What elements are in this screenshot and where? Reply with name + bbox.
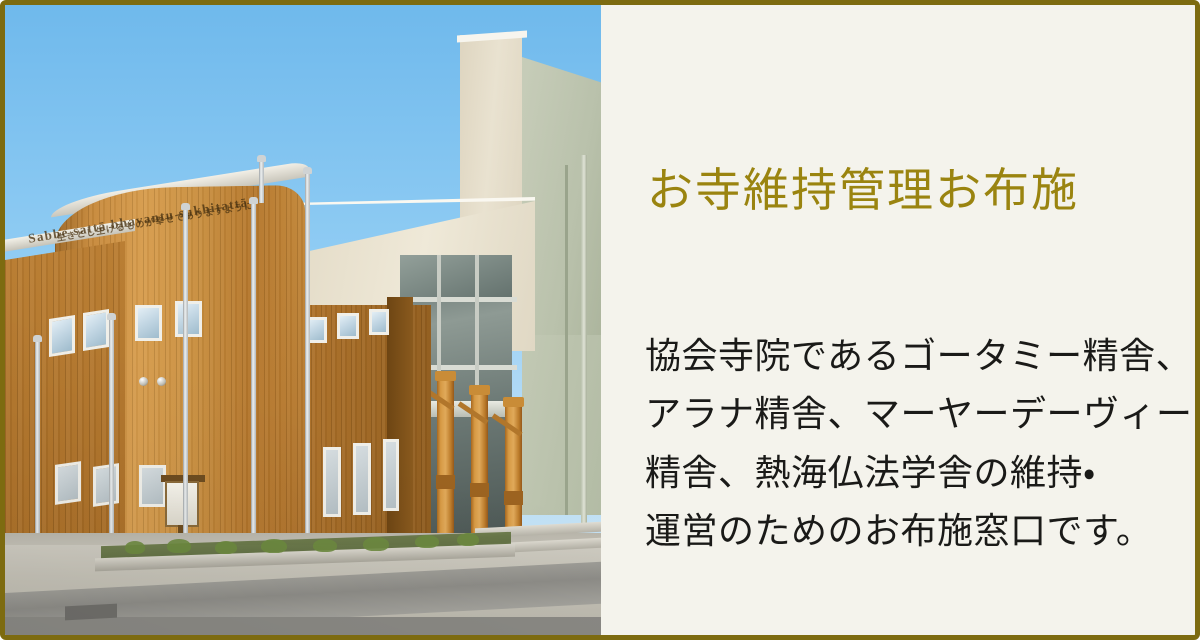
photo-vignette [5, 5, 601, 635]
description-text: 協会寺院であるゴータミー精舎、 アラナ精舎、マーヤーデーヴィー 精舎、熱海仏法学… [645, 327, 1171, 560]
description-line: アラナ精舎、マーヤーデーヴィー [645, 385, 1171, 443]
donation-banner-card: Sabbe sattā bhavantu sukhitattā 生きとし生けるも… [0, 0, 1200, 640]
description-line: 精舎、熱海仏法学舎の維持・ [645, 444, 1171, 502]
description-line: 協会寺院であるゴータミー精舎、 [645, 327, 1171, 385]
description-line: 運営のためのお布施窓口です。 [645, 502, 1171, 560]
page-title: お寺維持管理お布施 [647, 168, 1079, 214]
text-panel: お寺維持管理お布施 協会寺院であるゴータミー精舎、 アラナ精舎、マーヤーデーヴィ… [601, 5, 1195, 635]
temple-building-photo: Sabbe sattā bhavantu sukhitattā 生きとし生けるも… [5, 5, 601, 635]
